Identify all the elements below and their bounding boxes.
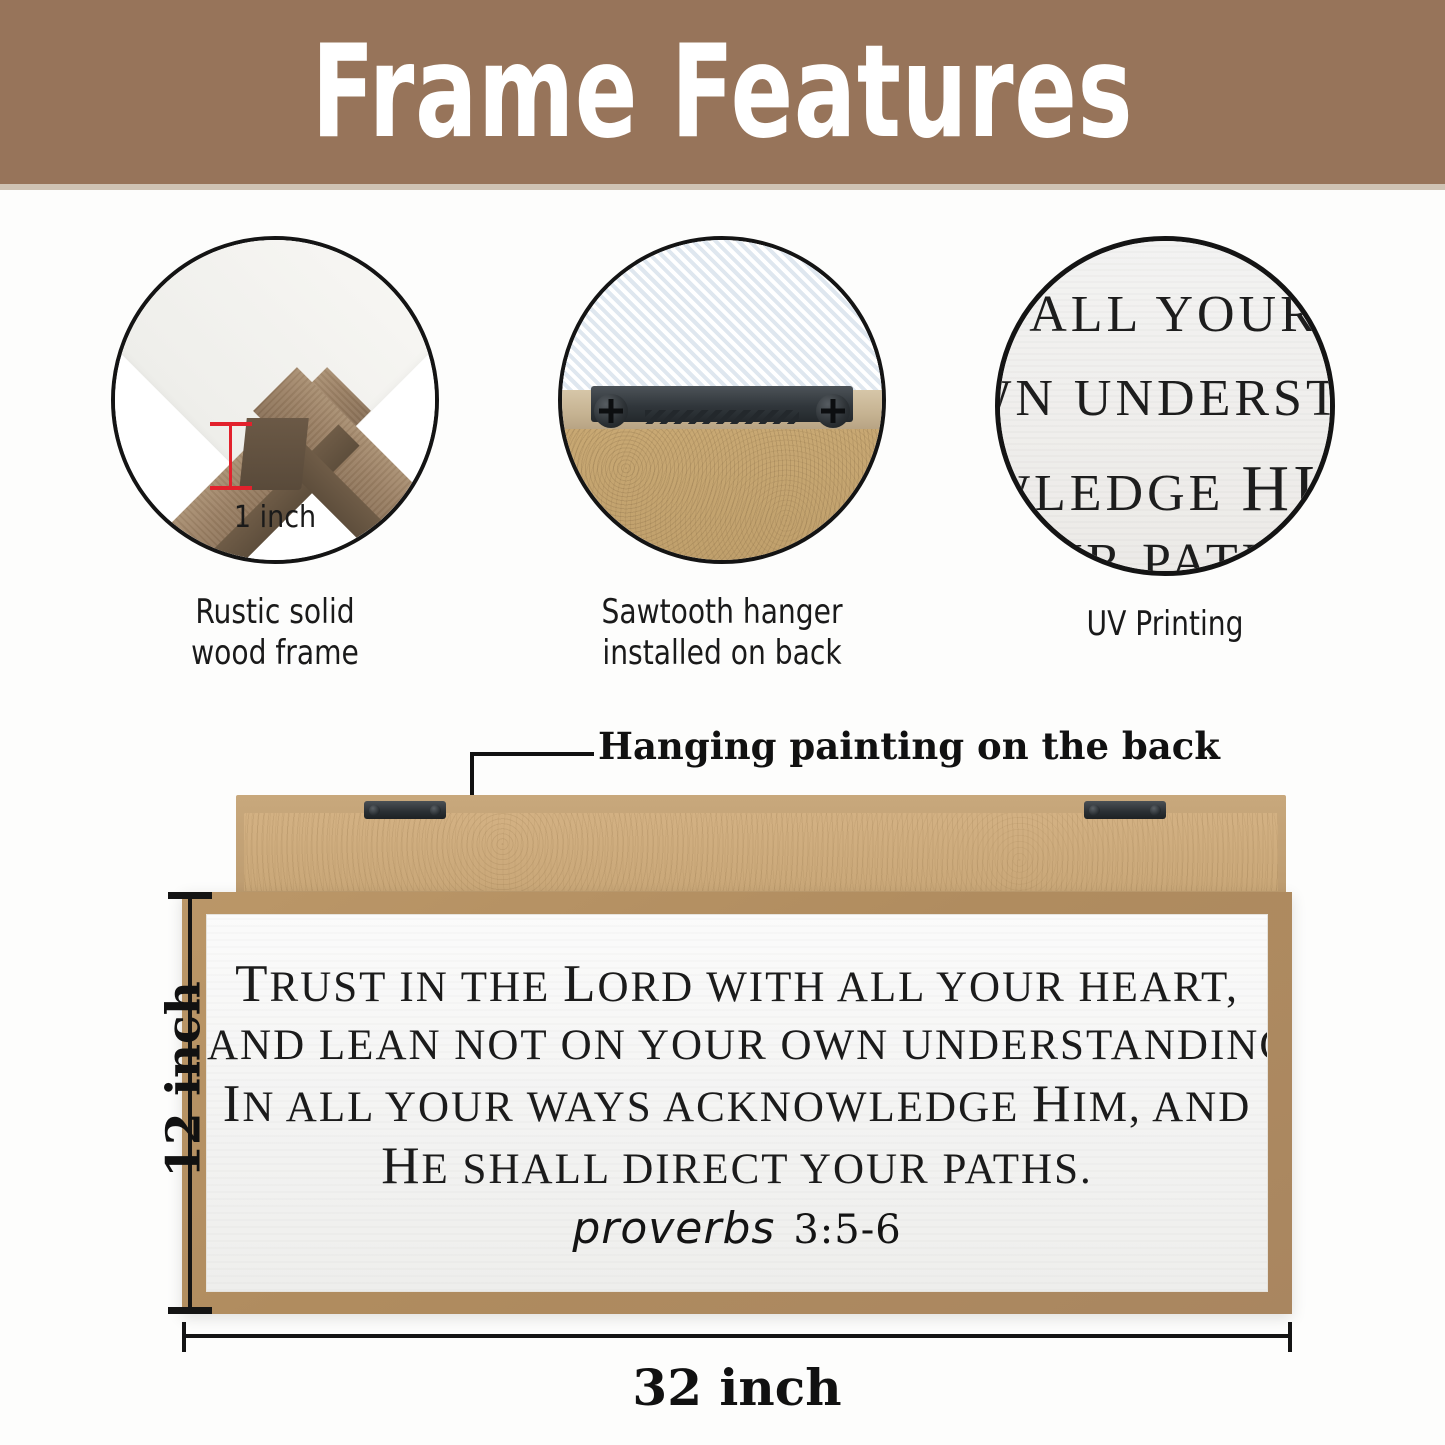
feature-uv-printing: ALL YOUR WN UNDERST WLEDGE HI UR PATH UV… xyxy=(955,236,1375,645)
quote-line-4: HE SHALL DIRECT YOUR PATHS. xyxy=(207,1137,1267,1199)
uv-macro-line4: UR PATH xyxy=(1000,533,1330,571)
dimension-line-horizontal xyxy=(182,1334,1292,1338)
sign-scripture-reference: proverbs3:5-6 xyxy=(207,1203,1267,1254)
sign-quote-text: TRUST IN THE LORD WITH ALL YOUR HEART, A… xyxy=(207,955,1267,1199)
uv-macro-line2: WN UNDERST xyxy=(1000,369,1330,428)
header-banner: Frame Features xyxy=(0,0,1445,184)
feature-label-line1: Rustic solid xyxy=(82,592,468,633)
wood-frame-corner-icon: 1 inch xyxy=(111,236,439,564)
one-inch-marker-icon xyxy=(229,422,232,490)
quote-line-1: TRUST IN THE LORD WITH ALL YOUR HEART, xyxy=(207,955,1267,1017)
page-title: Frame Features xyxy=(145,28,1301,158)
feature-label-rustic-wood-frame: Rustic solid wood frame xyxy=(82,592,468,674)
feature-label-line1: Sawtooth hanger xyxy=(529,592,915,633)
sawtooth-hanger-icon xyxy=(364,801,446,819)
uv-macro-line3: WLEDGE HI xyxy=(1000,451,1330,527)
feature-label-sawtooth-hanger: Sawtooth hanger installed on back xyxy=(529,592,915,674)
frame-back-panel xyxy=(236,795,1286,895)
callout-text: Hanging painting on the back xyxy=(598,724,1220,768)
feature-rustic-wood-frame: 1 inch Rustic solid wood frame xyxy=(65,236,485,674)
sawtooth-hanger-icon xyxy=(558,236,886,564)
scripture-verse: 3:5-6 xyxy=(793,1207,901,1253)
banner-divider xyxy=(0,184,1445,190)
dimension-cap-right xyxy=(1288,1322,1292,1352)
one-inch-label: 1 inch xyxy=(115,500,435,535)
feature-label-line1: UV Printing xyxy=(972,604,1358,645)
sign-board: TRUST IN THE LORD WITH ALL YOUR HEART, A… xyxy=(206,914,1268,1292)
callout-leader-horizontal xyxy=(470,752,594,756)
feature-sawtooth-hanger: Sawtooth hanger installed on back xyxy=(512,236,932,674)
dimension-height: 12 inch xyxy=(160,892,220,1314)
uv-macro-line1: ALL YOUR xyxy=(1000,285,1330,344)
feature-row: 1 inch Rustic solid wood frame xyxy=(0,236,1445,686)
dimension-height-label: 12 inch xyxy=(157,960,212,1200)
infographic-page: Frame Features 1 inch Rustic solid xyxy=(0,0,1445,1445)
product-sign-front: TRUST IN THE LORD WITH ALL YOUR HEART, A… xyxy=(182,892,1292,1314)
scripture-book: proverbs xyxy=(572,1203,775,1254)
feature-label-line2: installed on back xyxy=(529,633,915,674)
dimension-cap-bottom xyxy=(168,1307,212,1314)
screw-icon xyxy=(816,394,850,428)
screw-icon xyxy=(594,394,628,428)
sawtooth-hanger-icon xyxy=(1084,801,1166,819)
quote-line-2: AND LEAN NOT ON YOUR OWN UNDERSTANDING; xyxy=(207,1017,1267,1075)
feature-label-uv-printing: UV Printing xyxy=(972,604,1358,645)
quote-line-3: IN ALL YOUR WAYS ACKNOWLEDGE HIM, AND xyxy=(207,1075,1267,1137)
uv-printing-icon: ALL YOUR WN UNDERST WLEDGE HI UR PATH xyxy=(995,236,1335,576)
dimension-width-label: 32 inch xyxy=(182,1358,1292,1417)
dimension-width: 32 inch xyxy=(182,1322,1292,1432)
feature-label-line2: wood frame xyxy=(82,633,468,674)
